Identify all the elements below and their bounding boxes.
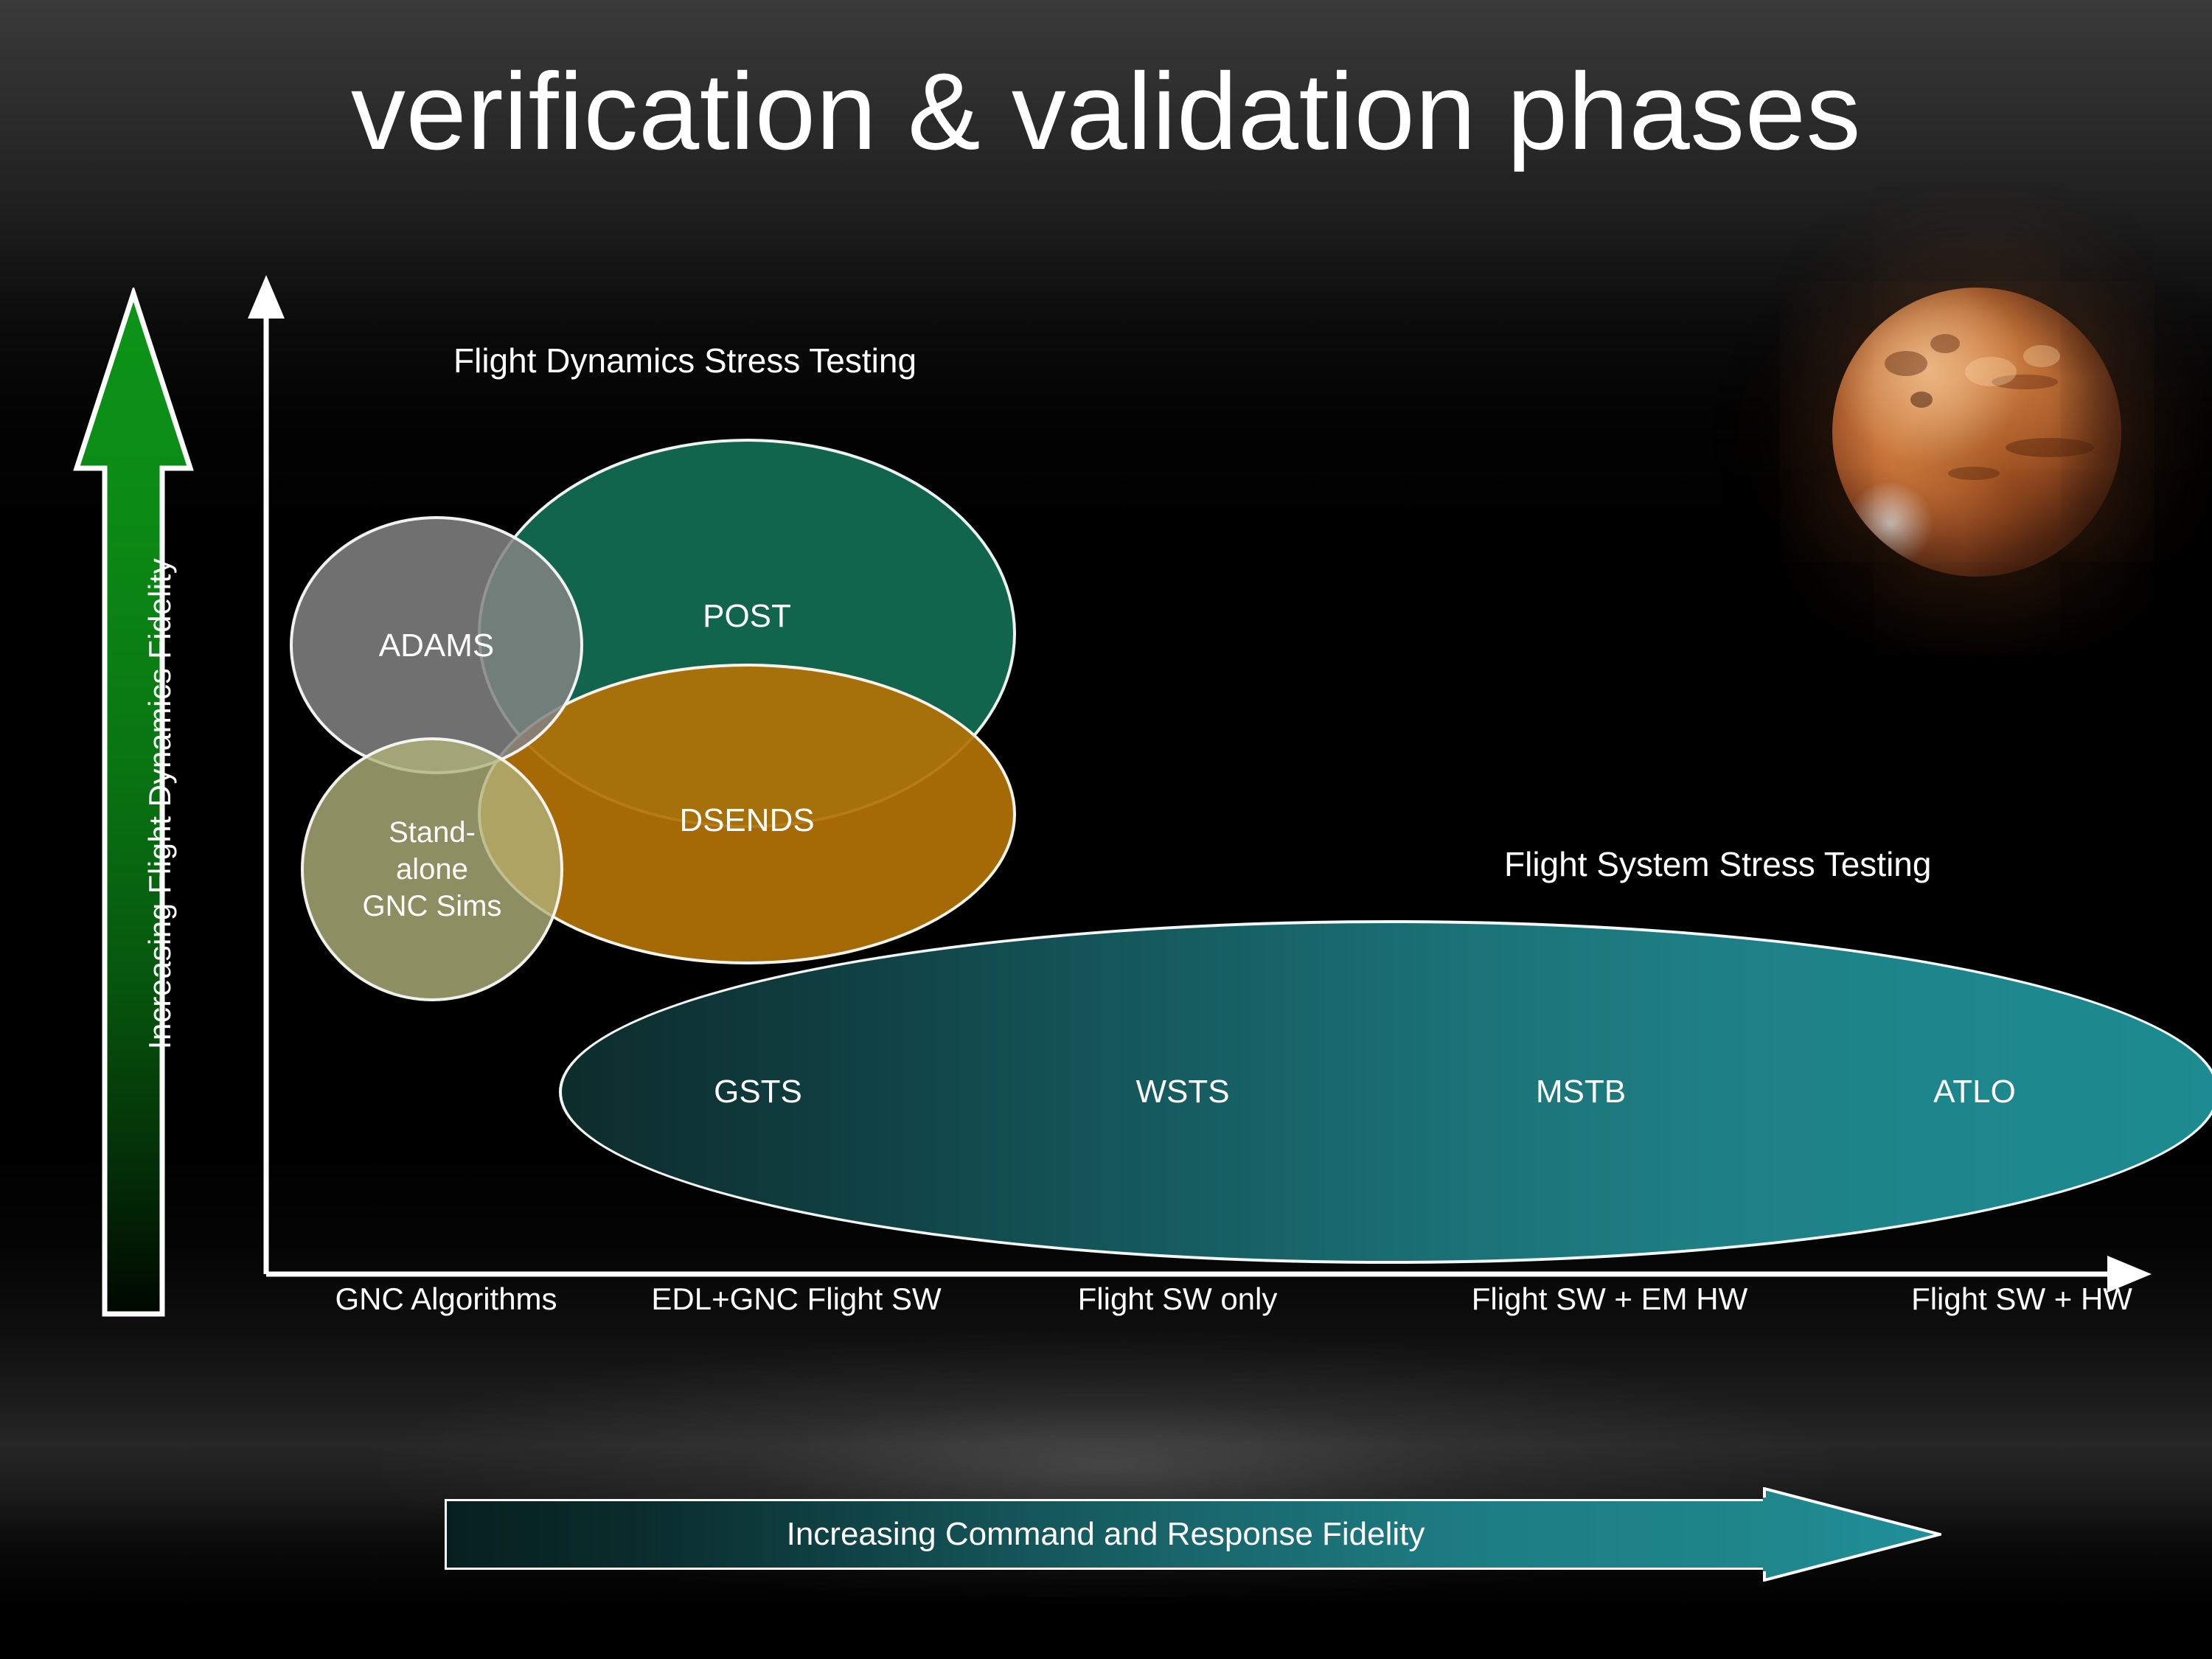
vertical-axis-label: Increasing Flight Dynamics Fidelity [142, 558, 178, 1049]
x-tick-flight-sw-em-hw: Flight SW + EM HW [1472, 1281, 1748, 1317]
page-title: verification & validation phases [0, 58, 2212, 167]
ellipse-flight-system-phases[interactable]: GSTS WSTS MSTB ATLO [559, 920, 2212, 1264]
x-tick-edl-gnc-flight-sw: EDL+GNC Flight SW [651, 1281, 941, 1317]
ellipse-post-label: POST [703, 596, 791, 636]
horizontal-arrow-head [1763, 1487, 1941, 1582]
x-tick-flight-sw-hw: Flight SW + HW [1911, 1281, 2132, 1317]
ellipse-adams[interactable]: ADAMS [290, 516, 583, 774]
horizontal-fidelity-arrow: Increasing Command and Response Fidelity [445, 1487, 1940, 1582]
x-tick-gnc-algorithms: GNC Algorithms [335, 1281, 557, 1317]
mars-planet-icon [1832, 288, 2121, 577]
vertical-fidelity-arrow: Increasing Flight Dynamics Fidelity [71, 288, 196, 1320]
ellipse-adams-label: ADAMS [379, 625, 494, 666]
x-axis-tick-labels: GNC Algorithms EDL+GNC Flight SW Flight … [0, 1281, 2212, 1333]
phase-node-mstb: MSTB [1536, 1074, 1626, 1110]
phase-node-wsts: WSTS [1135, 1074, 1229, 1110]
x-tick-flight-sw-only: Flight SW only [1078, 1281, 1278, 1317]
phase-node-gsts: GSTS [714, 1074, 802, 1110]
flight-system-stress-testing-label: Flight System Stress Testing [1504, 844, 1931, 884]
phase-node-atlo: ATLO [1933, 1074, 2016, 1110]
ellipse-gnc-sims[interactable]: Stand-aloneGNC Sims [301, 737, 563, 1001]
horizontal-arrow-label: Increasing Command and Response Fidelity [445, 1499, 1767, 1570]
flight-dynamics-stress-testing-label: Flight Dynamics Stress Testing [453, 341, 917, 380]
ellipse-dsends-label: DSENDS [679, 800, 814, 841]
ellipse-gnc-sims-label: Stand-aloneGNC Sims [363, 814, 502, 925]
